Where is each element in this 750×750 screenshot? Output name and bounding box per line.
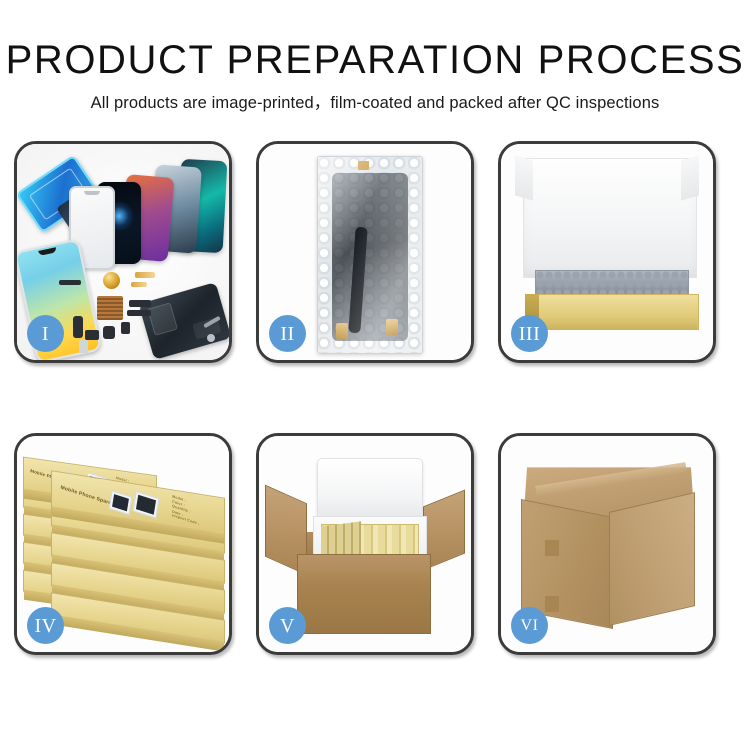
step-number-badge-3: III <box>511 315 548 352</box>
chip-component-icon <box>97 296 123 320</box>
process-step-grid: I II <box>14 141 736 678</box>
foam-lid <box>317 458 423 522</box>
step-panel-5[interactable]: V <box>256 433 474 655</box>
part-sim-tray <box>79 340 88 353</box>
bag-gloss <box>318 157 422 353</box>
step-number-badge-5: V <box>269 607 306 644</box>
step-panel-1[interactable]: I <box>14 141 232 363</box>
step-number-badge-1: I <box>27 315 64 352</box>
carton-side-face <box>609 492 695 626</box>
part-small-1 <box>85 330 99 340</box>
notch-icon <box>38 247 57 256</box>
screw-icon <box>207 334 215 342</box>
page-title: PRODUCT PREPARATION PROCESS <box>0 40 750 80</box>
part-flex-1 <box>73 316 83 338</box>
tape-mark-upper <box>545 540 559 556</box>
page-subtitle: All products are image-printed，film-coat… <box>0 93 750 113</box>
step-panel-6[interactable]: VI <box>498 433 716 655</box>
part-flex-gold-2 <box>131 282 147 287</box>
part-flex-gold-1 <box>135 272 155 278</box>
header: PRODUCT PREPARATION PROCESS All products… <box>0 0 750 113</box>
inner-box-lid <box>523 158 697 278</box>
product-preparation-infographic: PRODUCT PREPARATION PROCESS All products… <box>0 0 750 750</box>
lid-flap-right <box>681 155 699 200</box>
step-panel-3[interactable]: III <box>498 141 716 363</box>
step-number-badge-6: VI <box>511 607 548 644</box>
notch-icon <box>84 191 100 195</box>
part-small-3 <box>121 322 130 334</box>
step-number-badge-4: IV <box>27 607 64 644</box>
step-panel-2[interactable]: II <box>256 141 474 363</box>
part-strip-3 <box>127 310 151 316</box>
step-number-badge-2: II <box>269 315 306 352</box>
part-strip-1 <box>59 280 81 285</box>
step-panel-4[interactable]: Mobile Phone Spare Parts Model : Color :… <box>14 433 232 655</box>
inner-box-tray-front <box>525 316 697 330</box>
speaker-component-icon <box>103 272 120 289</box>
part-strip-2 <box>129 300 151 307</box>
part-small-2 <box>103 326 115 339</box>
carton-body <box>297 554 431 634</box>
tape-mark-lower <box>545 596 559 612</box>
lid-flap-left <box>515 155 533 200</box>
bubble-wrap-bag <box>317 156 423 354</box>
